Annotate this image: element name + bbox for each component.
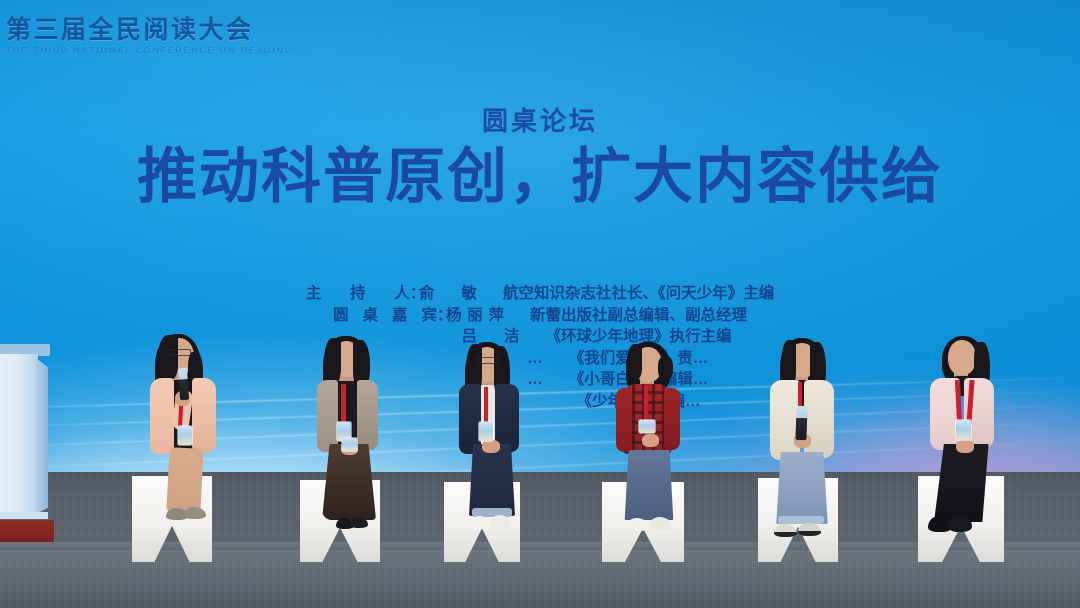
arm [664, 388, 680, 450]
shoe [649, 517, 672, 530]
stage-photo: 第三届全民阅读大会 THE THIRD NATIONAL CONFERENCE … [0, 0, 1080, 608]
glasses-icon [168, 349, 191, 356]
hair-front [324, 338, 341, 384]
badge [479, 422, 493, 441]
credit-gap [554, 391, 576, 413]
panelist-6 [898, 332, 1038, 562]
hands [956, 440, 974, 453]
hands [482, 440, 500, 453]
event-logo: 第三届全民阅读大会 THE THIRD NATIONAL CONFERENCE … [6, 18, 294, 56]
credit-gap [508, 305, 530, 327]
cardigan [317, 380, 338, 452]
podium-base [0, 520, 54, 542]
credit-desc: 新蕾出版社副总编辑、副总经理 [530, 305, 747, 327]
credit-colon: ： [437, 305, 446, 327]
pants [467, 444, 517, 516]
hair-bun [658, 356, 673, 380]
hair-front [627, 344, 642, 380]
podium-body [0, 354, 38, 516]
forum-kicker: 圆桌论坛 [0, 108, 1080, 135]
pant-cuff [778, 516, 824, 524]
legs [166, 447, 203, 513]
hair-front [158, 335, 178, 379]
cardigan [357, 380, 378, 450]
badge-held [342, 438, 357, 451]
podium [0, 344, 58, 544]
jeans [774, 452, 830, 524]
arm [616, 388, 632, 452]
hands [642, 434, 659, 447]
panelist-1-host [122, 330, 250, 562]
forum-title: 推动科普原创，扩大内容供给 [0, 146, 1080, 207]
jeans [622, 450, 676, 520]
credit-gap [481, 283, 503, 305]
skirt [322, 444, 376, 520]
credit-label: 主持人 [306, 283, 410, 305]
panelist-4 [588, 340, 718, 562]
microphone-icon [795, 406, 807, 440]
event-logo-chinese: 第三届全民阅读大会 [6, 18, 294, 43]
badge [956, 420, 971, 440]
head [948, 340, 976, 375]
badge [639, 420, 655, 433]
credit-row: 主持人 ： 俞敏 航空知识杂志社社长、《问天少年》主编 [0, 283, 1080, 305]
shoe [798, 523, 821, 536]
podium-side [36, 358, 48, 514]
credit-name: 杨丽萍 [446, 305, 508, 327]
credit-name: 俞敏 [419, 283, 481, 305]
shoe [774, 524, 797, 537]
shoe [350, 517, 368, 528]
jacket [192, 378, 216, 452]
badge [178, 426, 192, 445]
credit-label: 圆桌嘉宾 [333, 305, 437, 327]
shoe [470, 516, 491, 529]
credit-colon: ： [410, 283, 419, 305]
credit-desc: 航空知识杂志社社长、《问天少年》主编 [503, 283, 774, 305]
panelist-2 [288, 334, 414, 562]
blazer [459, 384, 481, 454]
event-logo-english: THE THIRD NATIONAL CONFERENCE ON READING [6, 47, 294, 56]
shoe [184, 507, 206, 519]
podium-trim [0, 512, 48, 519]
shoe [626, 518, 649, 531]
headline-block: 圆桌论坛 推动科普原创，扩大内容供给 [0, 108, 1080, 207]
credit-row: 圆桌嘉宾 ： 杨丽萍 新蕾出版社副总编辑、副总经理 [0, 305, 1080, 327]
panelist-5 [740, 334, 870, 562]
jacket [150, 378, 174, 454]
panelist-3 [432, 340, 552, 562]
glasses-icon [476, 357, 498, 364]
shoe [490, 515, 511, 528]
